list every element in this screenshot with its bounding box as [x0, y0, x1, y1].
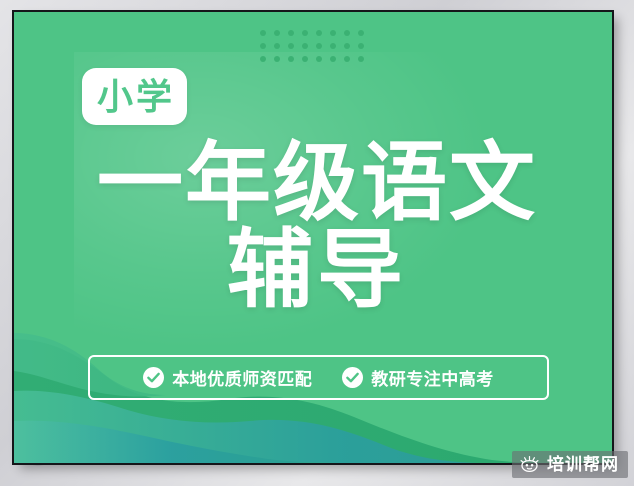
dot [274, 56, 280, 62]
dot [358, 43, 364, 49]
dot [302, 30, 308, 36]
dot-grid-icon [260, 30, 372, 69]
page-title-line2: 辅导 [14, 227, 612, 315]
dot [330, 30, 336, 36]
dot [344, 30, 350, 36]
watermark: 培训帮网 [512, 451, 628, 478]
feature-item-2: 教研专注中高考 [342, 365, 494, 390]
dot [344, 56, 350, 62]
dot [316, 56, 322, 62]
dot [330, 43, 336, 49]
dot [260, 43, 266, 49]
watermark-text: 培训帮网 [547, 456, 619, 473]
page-title: 一年级语文 辅导 [14, 141, 612, 315]
dot [344, 43, 350, 49]
feature-item-1-label: 本地优质师资匹配 [172, 365, 312, 390]
dot [316, 30, 322, 36]
dot [358, 56, 364, 62]
dot [358, 30, 364, 36]
dot [288, 43, 294, 49]
feature-bar: 本地优质师资匹配 教研专注中高考 [88, 355, 549, 400]
dot [274, 30, 280, 36]
dot [274, 43, 280, 49]
feature-item-1: 本地优质师资匹配 [143, 365, 312, 390]
dot [316, 43, 322, 49]
page-title-line1: 一年级语文 [14, 141, 612, 225]
dot [260, 30, 266, 36]
dot [288, 30, 294, 36]
dot [330, 56, 336, 62]
dot [302, 56, 308, 62]
dot [302, 43, 308, 49]
check-circle-icon [143, 367, 164, 388]
check-circle-icon [342, 367, 363, 388]
feature-item-2-label: 教研专注中高考 [371, 365, 494, 390]
grade-level-badge-label: 小学 [94, 79, 175, 115]
grade-level-badge: 小学 [82, 68, 187, 125]
dot [260, 56, 266, 62]
sun-face-icon [519, 455, 540, 474]
dot [288, 56, 294, 62]
poster-card: 小学 一年级语文 辅导 本地优质师资匹配 教研专注中高考 [14, 12, 612, 463]
